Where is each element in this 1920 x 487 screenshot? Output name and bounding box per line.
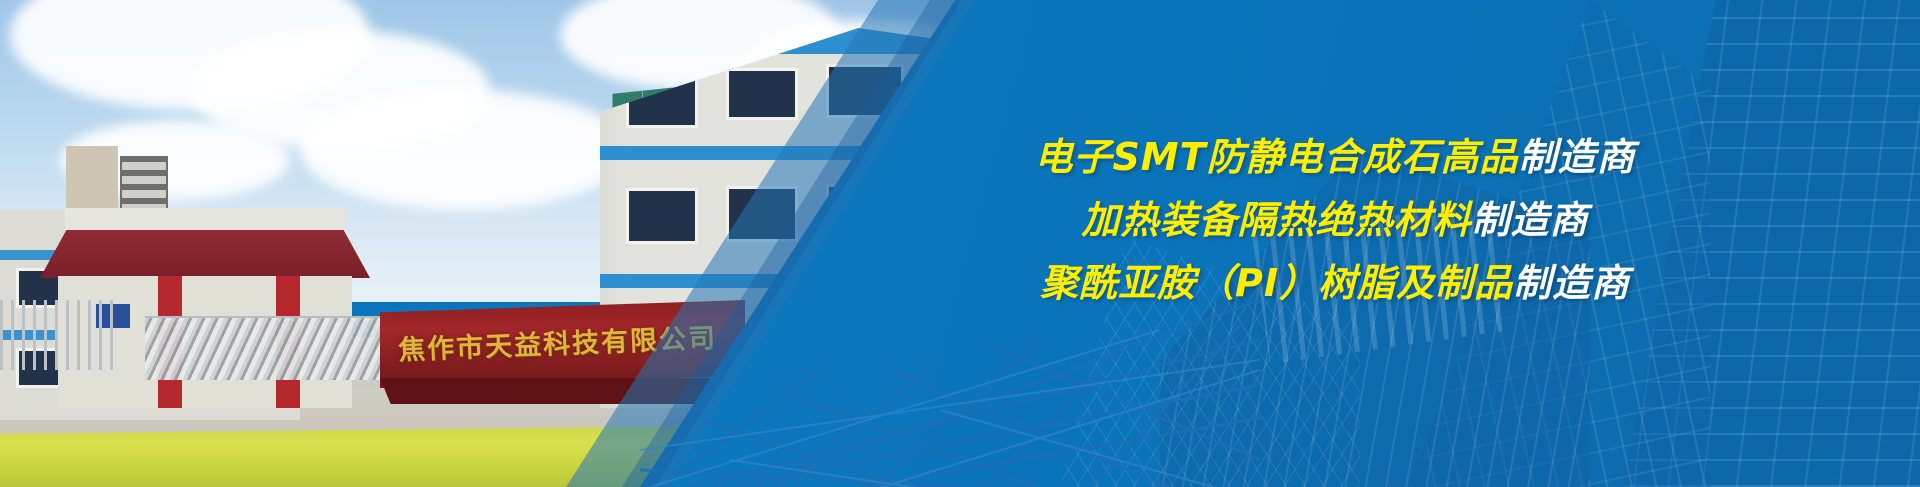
perimeter-railing [0,300,120,370]
headline-line-1-highlight: 电子SMT防静电合成石高品 [1034,135,1518,179]
cloud [300,90,630,210]
headline-line-2-highlight: 加热装备隔热绝热材料 [1081,198,1471,242]
hero-banner: 焦作市天益科技有限公司 [0,0,1920,487]
headline-line-1-suffix: 制造商 [1519,135,1636,179]
headline-line-3-suffix: 制造商 [1513,261,1630,305]
headline-line-3-highlight: 聚酰亚胺（PI）树脂及制品 [1040,261,1513,305]
headline-line-2: 加热装备隔热绝热材料制造商 [955,189,1715,252]
gatehouse-red-roof [40,230,370,278]
headline-line-3: 聚酰亚胺（PI）树脂及制品制造商 [955,252,1715,315]
headline-line-1: 电子SMT防静电合成石高品制造商 [955,126,1715,189]
headline-line-2-suffix: 制造商 [1472,198,1589,242]
space-frame-truss [640,300,1260,487]
headline-block: 电子SMT防静电合成石高品制造商 加热装备隔热绝热材料制造商 聚酰亚胺（PI）树… [955,126,1715,315]
retractable-metal-gate [145,318,405,380]
